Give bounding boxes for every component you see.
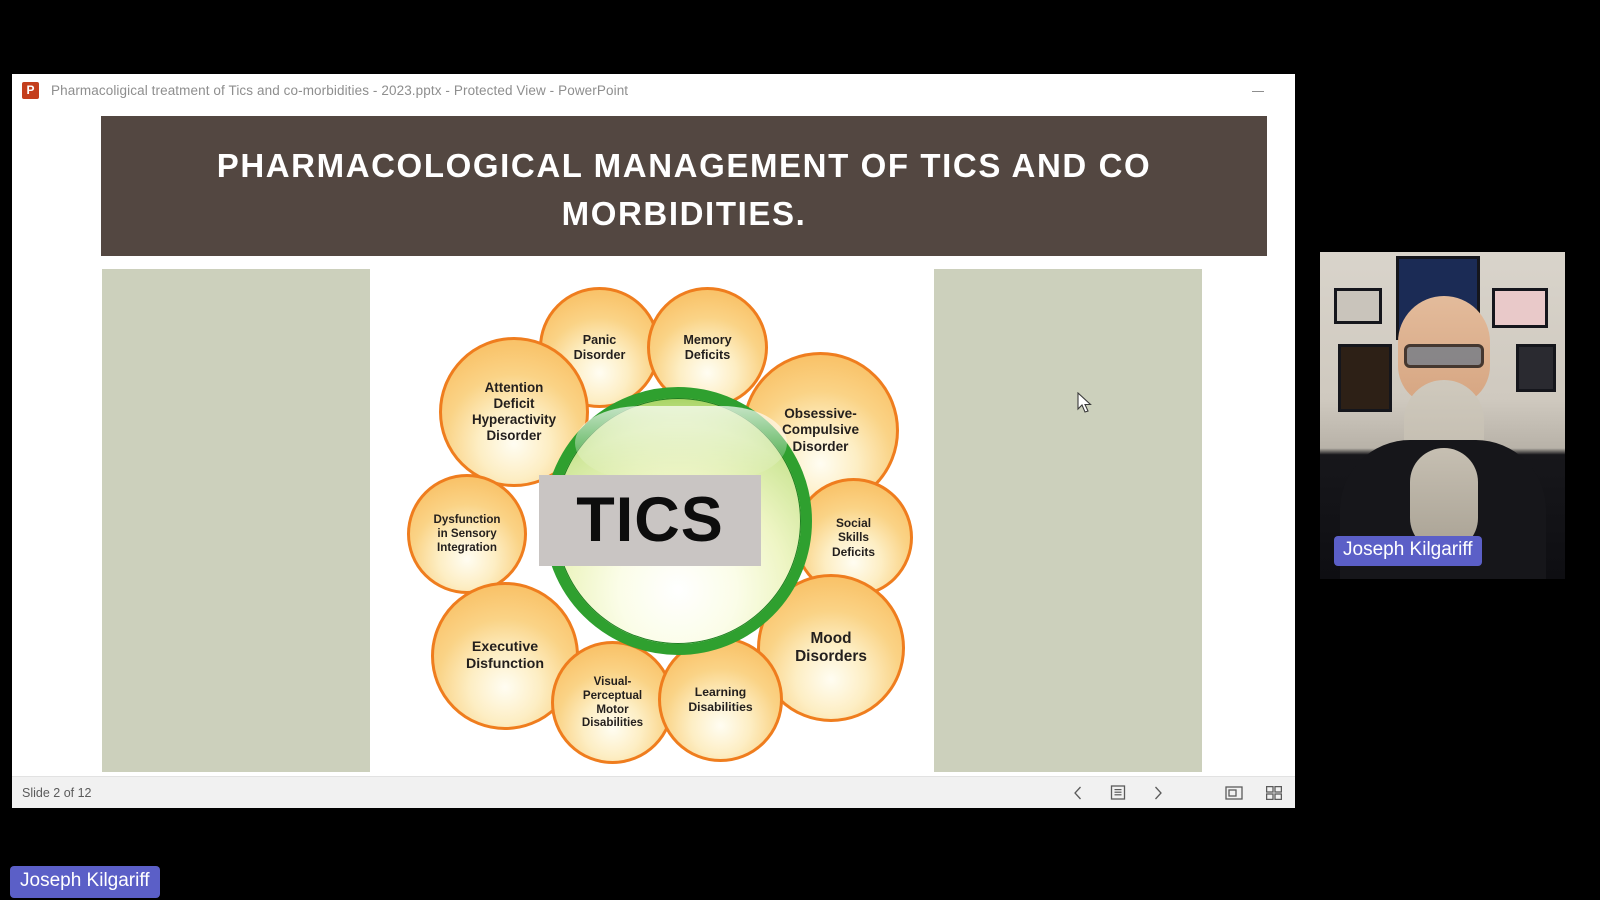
participant-glasses — [1404, 344, 1484, 368]
slide-sorter-icon[interactable] — [1263, 782, 1285, 804]
petal-label: SocialSkillsDeficits — [832, 516, 875, 558]
petal-label: Obsessive-CompulsiveDisorder — [782, 406, 859, 454]
powerpoint-icon — [22, 82, 39, 99]
mouse-cursor — [1077, 392, 1093, 414]
window-title: Pharmacoligical treatment of Tics and co… — [51, 83, 628, 98]
footer-participant-name-badge: Joseph Kilgariff — [10, 866, 160, 898]
tics-textbox: TICS — [539, 475, 761, 566]
petal-label: MemoryDeficits — [683, 333, 731, 363]
minimize-icon — [1252, 91, 1264, 92]
petal-label: MoodDisorders — [795, 630, 867, 666]
wall-picture — [1338, 344, 1392, 412]
petal-label: PanicDisorder — [574, 333, 626, 363]
slide: PHARMACOLOGICAL MANAGEMENT OF TICS AND C… — [101, 116, 1267, 773]
petal-label: Dysfunctionin SensoryIntegration — [434, 513, 501, 554]
screen: Pharmacoligical treatment of Tics and co… — [0, 0, 1600, 900]
slide-left-panel — [102, 269, 370, 772]
petal-learning-disabilities: LearningDisabilities — [658, 637, 783, 762]
petal-sensory-integration: Dysfunctionin SensoryIntegration — [407, 474, 527, 594]
status-bar-controls — [1067, 777, 1285, 808]
tics-label: TICS — [576, 489, 724, 552]
powerpoint-window: Pharmacoligical treatment of Tics and co… — [12, 74, 1295, 807]
video-tile[interactable]: Joseph Kilgariff — [1320, 252, 1565, 579]
petal-label: Visual-PerceptualMotorDisabilities — [582, 675, 643, 730]
wall-picture — [1492, 288, 1548, 328]
minimize-button[interactable] — [1243, 82, 1273, 100]
wall-picture — [1516, 344, 1556, 392]
center-gloss — [575, 406, 787, 480]
chevron-right-icon[interactable] — [1147, 782, 1169, 804]
reading-view-icon[interactable] — [1223, 782, 1245, 804]
comorbidity-flower-diagram: PanicDisorder MemoryDeficits AttentionDe… — [399, 269, 939, 772]
window-titlebar: Pharmacoligical treatment of Tics and co… — [12, 74, 1295, 106]
status-bar: Slide 2 of 12 — [12, 776, 1295, 808]
slide-right-panel — [934, 269, 1202, 772]
participant-name-badge: Joseph Kilgariff — [1334, 536, 1482, 566]
video-feed — [1320, 252, 1565, 579]
petal-label: LearningDisabilities — [688, 685, 752, 714]
page-title: PHARMACOLOGICAL MANAGEMENT OF TICS AND C… — [161, 142, 1207, 238]
slide-canvas[interactable]: PHARMACOLOGICAL MANAGEMENT OF TICS AND C… — [12, 106, 1295, 776]
chevron-left-icon[interactable] — [1067, 782, 1089, 804]
slide-counter: Slide 2 of 12 — [22, 786, 92, 800]
petal-label: ExecutiveDisfunction — [466, 639, 544, 673]
wall-picture — [1334, 288, 1382, 324]
notes-page-icon[interactable] — [1107, 782, 1129, 804]
petal-visual-perceptual: Visual-PerceptualMotorDisabilities — [551, 641, 674, 764]
petal-label: AttentionDeficitHyperactivityDisorder — [472, 380, 556, 443]
slide-title-band: PHARMACOLOGICAL MANAGEMENT OF TICS AND C… — [101, 116, 1267, 256]
